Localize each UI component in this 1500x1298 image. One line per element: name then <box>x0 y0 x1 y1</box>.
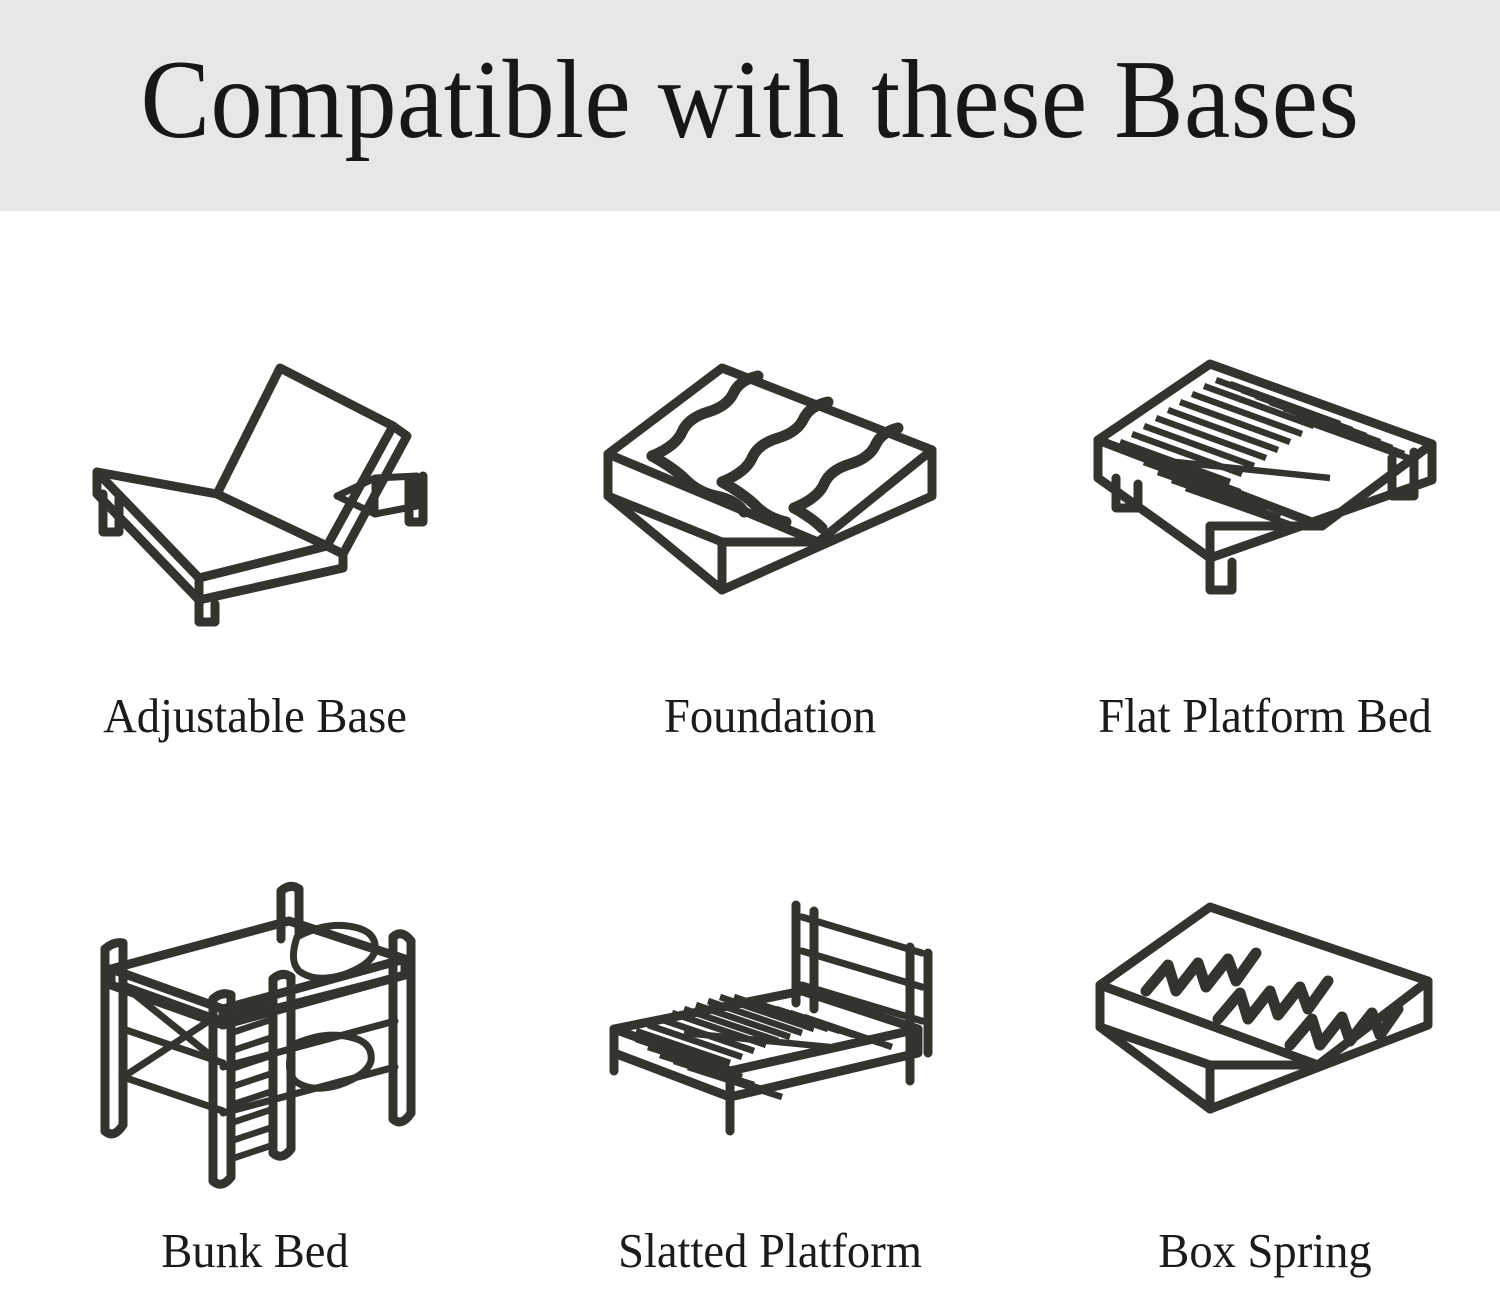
header-band: Compatible with these Bases <box>0 0 1500 211</box>
bunk-bed-icon <box>5 881 505 1211</box>
base-item-slatted-platform[interactable]: Slatted Platform <box>520 881 1020 1276</box>
adjustable-base-icon <box>5 346 505 676</box>
slatted-platform-icon <box>520 881 1020 1211</box>
base-item-label: Slatted Platform <box>533 1225 1008 1276</box>
base-item-label: Bunk Bed <box>18 1225 493 1276</box>
base-item-label: Box Spring <box>1028 1225 1500 1276</box>
base-item-flat-platform-bed[interactable]: Flat Platform Bed <box>1015 346 1500 741</box>
base-item-adjustable-base[interactable]: Adjustable Base <box>5 346 505 741</box>
base-grid: Adjustable Base <box>0 211 1500 1298</box>
base-item-bunk-bed[interactable]: Bunk Bed <box>5 881 505 1276</box>
base-item-label: Foundation <box>533 690 1008 741</box>
base-item-box-spring[interactable]: Box Spring <box>1015 881 1500 1276</box>
box-spring-icon <box>1015 881 1500 1211</box>
base-item-foundation[interactable]: Foundation <box>520 346 1020 741</box>
base-item-label: Adjustable Base <box>18 690 493 741</box>
foundation-icon <box>520 346 1020 676</box>
compatibility-infographic: Compatible with these Bases <box>0 0 1500 1298</box>
base-item-label: Flat Platform Bed <box>1028 690 1500 741</box>
flat-platform-bed-icon <box>1015 346 1500 676</box>
page-title: Compatible with these Bases <box>53 44 1448 156</box>
